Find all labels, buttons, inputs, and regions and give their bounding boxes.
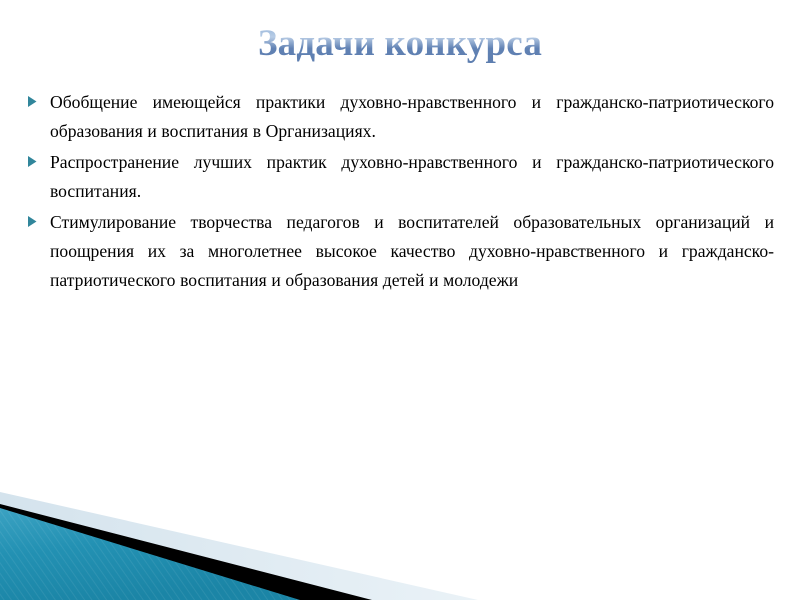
list-item: Обобщение имеющейся практики духовно-нра… xyxy=(28,88,774,145)
list-item: Стимулирование творчества педагогов и во… xyxy=(28,208,774,294)
slide-canvas: Задачи конкурса Обобщение имеющейся прак… xyxy=(0,0,800,600)
list-item: Распространение лучших практик духовно-н… xyxy=(28,148,774,205)
list-item-text: Распространение лучших практик духовно-н… xyxy=(50,148,774,205)
content-placeholder: Обобщение имеющейся практики духовно-нра… xyxy=(28,88,774,297)
triangle-right-icon xyxy=(28,88,50,107)
list-item-text: Обобщение имеющейся практики духовно-нра… xyxy=(50,88,774,145)
page-title: Задачи конкурса xyxy=(0,22,800,66)
teal-wedge xyxy=(0,508,300,600)
triangle-right-icon xyxy=(28,148,50,167)
list-item-text: Стимулирование творчества педагогов и во… xyxy=(50,208,774,294)
diagonal-corner-banner xyxy=(0,480,800,600)
pale-band xyxy=(0,492,478,600)
black-stripe xyxy=(0,504,372,600)
triangle-right-icon xyxy=(28,208,50,227)
